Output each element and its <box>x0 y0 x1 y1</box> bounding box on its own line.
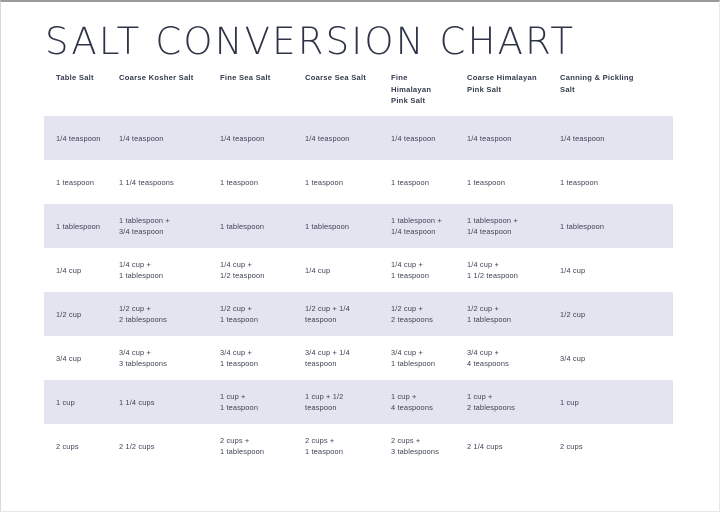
conversion-table-wrap: Table SaltCoarse Kosher SaltFine Sea Sal… <box>44 64 673 468</box>
cell-line: 1/4 cup <box>560 265 665 276</box>
cell-line: 2 cups + <box>391 435 459 446</box>
cell-fine-sea-salt: 1 teaspoon <box>220 160 305 204</box>
header-line: Pink Salt <box>467 84 550 96</box>
column-header-table-salt: Table Salt <box>44 64 119 116</box>
page-title: SALT CONVERSION CHART <box>45 20 719 64</box>
table-row: 3/4 cup3/4 cup +3 tablespoons3/4 cup +1 … <box>44 336 673 380</box>
cell-coarse-sea-salt: 1 teaspoon <box>305 160 391 204</box>
cell-line: 1/4 cup <box>56 265 111 276</box>
cell-line: 1/4 cup + <box>467 259 552 270</box>
cell-line: 1 cup + <box>467 391 552 402</box>
cell-line: 1 teaspoon <box>56 177 111 188</box>
column-header-label: Canning & PicklingSalt <box>560 72 640 95</box>
cell-line: 2 1/4 cups <box>467 441 552 452</box>
cell-line: 4 teaspoons <box>467 358 552 369</box>
cell-line: 1/4 teaspoon <box>305 133 383 144</box>
cell-fine-sea-salt: 3/4 cup +1 teaspoon <box>220 336 305 380</box>
cell-line: 3/4 cup + <box>391 347 459 358</box>
header-line: Canning & Pickling <box>560 72 640 84</box>
cell-line: 2 tablespoons <box>119 314 212 325</box>
cell-line: 1 tablespoon <box>560 221 665 232</box>
cell-line: 2 1/2 cups <box>119 441 212 452</box>
cell-line: 1/2 cup <box>56 309 111 320</box>
cell-line: 1/4 teaspoon <box>391 133 459 144</box>
cell-line: 1/2 cup + 1/4 <box>305 303 383 314</box>
cell-canning-pickling-salt: 1/4 teaspoon <box>560 116 673 160</box>
cell-line: 1 1/4 cups <box>119 397 212 408</box>
cell-line: 1/2 teaspoon <box>220 270 297 281</box>
cell-line: 1 cup + 1/2 <box>305 391 383 402</box>
cell-line: teaspoon <box>305 314 383 325</box>
cell-fine-himalayan-pink-salt: 3/4 cup +1 tablespoon <box>391 336 467 380</box>
column-header-canning-pickling-salt: Canning & PicklingSalt <box>560 64 673 116</box>
cell-table-salt: 1 tablespoon <box>44 204 119 248</box>
cell-coarse-himalayan-pink-salt: 1 tablespoon +1/4 teaspoon <box>467 204 560 248</box>
cell-line: 3 tablespoons <box>119 358 212 369</box>
column-header-coarse-himalayan-pink-salt: Coarse HimalayanPink Salt <box>467 64 560 116</box>
cell-line: 1/4 cup <box>305 265 383 276</box>
column-header-label: Table Salt <box>56 72 109 84</box>
cell-line: 1/2 cup <box>560 309 665 320</box>
column-header-label: FineHimalayanPink Salt <box>391 72 457 107</box>
cell-canning-pickling-salt: 1/2 cup <box>560 292 673 336</box>
cell-fine-sea-salt: 1 cup +1 teaspoon <box>220 380 305 424</box>
column-header-label: Coarse HimalayanPink Salt <box>467 72 550 95</box>
cell-coarse-himalayan-pink-salt: 1/4 teaspoon <box>467 116 560 160</box>
cell-line: 1 teaspoon <box>220 314 297 325</box>
cell-line: 3/4 cup <box>56 353 111 364</box>
cell-coarse-himalayan-pink-salt: 1 teaspoon <box>467 160 560 204</box>
cell-line: 1/4 cup + <box>391 259 459 270</box>
cell-coarse-himalayan-pink-salt: 1 cup +2 tablespoons <box>467 380 560 424</box>
table-row: 1 tablespoon1 tablespoon +3/4 teaspoon1 … <box>44 204 673 248</box>
cell-line: 1/4 teaspoon <box>560 133 665 144</box>
cell-line: 1 cup + <box>391 391 459 402</box>
cell-table-salt: 3/4 cup <box>44 336 119 380</box>
header-line: Table Salt <box>56 72 109 84</box>
cell-table-salt: 1 teaspoon <box>44 160 119 204</box>
cell-line: 1 cup <box>560 397 665 408</box>
cell-fine-himalayan-pink-salt: 2 cups +3 tablespoons <box>391 424 467 468</box>
cell-table-salt: 2 cups <box>44 424 119 468</box>
cell-line: 1/4 teaspoon <box>119 133 212 144</box>
table-row: 1/4 teaspoon1/4 teaspoon1/4 teaspoon1/4 … <box>44 116 673 160</box>
cell-line: 1 tablespoon <box>391 358 459 369</box>
cell-line: 2 cups + <box>220 435 297 446</box>
cell-coarse-himalayan-pink-salt: 3/4 cup +4 teaspoons <box>467 336 560 380</box>
cell-fine-sea-salt: 2 cups +1 tablespoon <box>220 424 305 468</box>
cell-coarse-sea-salt: 2 cups +1 teaspoon <box>305 424 391 468</box>
cell-line: 1/4 teaspoon <box>220 133 297 144</box>
cell-line: 1 teaspoon <box>560 177 665 188</box>
cell-line: 1 teaspoon <box>305 446 383 457</box>
cell-fine-himalayan-pink-salt: 1 tablespoon +1/4 teaspoon <box>391 204 467 248</box>
header-line: Coarse Sea Salt <box>305 72 371 84</box>
cell-line: 1/2 cup + <box>220 303 297 314</box>
table-row: 1 cup1 1/4 cups1 cup +1 teaspoon1 cup + … <box>44 380 673 424</box>
cell-coarse-sea-salt: 1/2 cup + 1/4teaspoon <box>305 292 391 336</box>
cell-line: 1/4 teaspoon <box>391 226 459 237</box>
header-line: Fine <box>391 72 457 84</box>
cell-table-salt: 1/4 cup <box>44 248 119 292</box>
cell-canning-pickling-salt: 2 cups <box>560 424 673 468</box>
cell-coarse-sea-salt: 1 tablespoon <box>305 204 391 248</box>
cell-coarse-himalayan-pink-salt: 1/4 cup +1 1/2 teaspoon <box>467 248 560 292</box>
cell-line: 1 teaspoon <box>391 270 459 281</box>
cell-line: teaspoon <box>305 402 383 413</box>
salt-conversion-table: Table SaltCoarse Kosher SaltFine Sea Sal… <box>44 64 673 468</box>
table-row: 2 cups2 1/2 cups2 cups +1 tablespoon2 cu… <box>44 424 673 468</box>
cell-line: 1 teaspoon <box>305 177 383 188</box>
cell-coarse-kosher-salt: 1 tablespoon +3/4 teaspoon <box>119 204 220 248</box>
cell-line: 1 tablespoon + <box>391 215 459 226</box>
header-line: Salt <box>560 84 640 96</box>
cell-line: 1 tablespoon <box>220 446 297 457</box>
table-row: 1/4 cup1/4 cup +1 tablespoon1/4 cup +1/2… <box>44 248 673 292</box>
cell-line: 1/4 teaspoon <box>467 133 552 144</box>
cell-fine-himalayan-pink-salt: 1 teaspoon <box>391 160 467 204</box>
cell-line: 2 tablespoons <box>467 402 552 413</box>
cell-fine-himalayan-pink-salt: 1/2 cup +2 teaspoons <box>391 292 467 336</box>
cell-line: 1 1/2 teaspoon <box>467 270 552 281</box>
cell-canning-pickling-salt: 1/4 cup <box>560 248 673 292</box>
cell-coarse-kosher-salt: 1/4 cup +1 tablespoon <box>119 248 220 292</box>
cell-line: 1/4 teaspoon <box>467 226 552 237</box>
cell-line: 1 cup <box>56 397 111 408</box>
cell-line: 1 tablespoon <box>305 221 383 232</box>
cell-table-salt: 1 cup <box>44 380 119 424</box>
cell-line: 1/4 teaspoon <box>56 133 111 144</box>
cell-coarse-himalayan-pink-salt: 1/2 cup +1 tablespoon <box>467 292 560 336</box>
table-header: Table SaltCoarse Kosher SaltFine Sea Sal… <box>44 64 673 116</box>
cell-line: 4 teaspoons <box>391 402 459 413</box>
cell-coarse-sea-salt: 1/4 teaspoon <box>305 116 391 160</box>
cell-canning-pickling-salt: 3/4 cup <box>560 336 673 380</box>
cell-line: 1 tablespoon + <box>119 215 212 226</box>
column-header-label: Coarse Sea Salt <box>305 72 371 84</box>
cell-line: 1 1/4 teaspoons <box>119 177 212 188</box>
column-header-coarse-kosher-salt: Coarse Kosher Salt <box>119 64 220 116</box>
cell-fine-himalayan-pink-salt: 1/4 cup +1 teaspoon <box>391 248 467 292</box>
cell-line: 1 tablespoon + <box>467 215 552 226</box>
cell-coarse-sea-salt: 1/4 cup <box>305 248 391 292</box>
cell-line: 2 teaspoons <box>391 314 459 325</box>
column-header-fine-sea-salt: Fine Sea Salt <box>220 64 305 116</box>
cell-line: 1/4 cup + <box>119 259 212 270</box>
table-header-row: Table SaltCoarse Kosher SaltFine Sea Sal… <box>44 64 673 116</box>
cell-line: 1 teaspoon <box>391 177 459 188</box>
cell-line: 2 cups <box>56 441 111 452</box>
cell-line: 1/2 cup + <box>119 303 212 314</box>
cell-line: 2 cups + <box>305 435 383 446</box>
cell-line: 3/4 cup + <box>220 347 297 358</box>
cell-line: teaspoon <box>305 358 383 369</box>
cell-line: 1 teaspoon <box>467 177 552 188</box>
column-header-label: Coarse Kosher Salt <box>119 72 185 84</box>
cell-coarse-himalayan-pink-salt: 2 1/4 cups <box>467 424 560 468</box>
cell-line: 3 tablespoons <box>391 446 459 457</box>
cell-line: 1/2 cup + <box>391 303 459 314</box>
cell-line: 1 tablespoon <box>119 270 212 281</box>
cell-line: 3/4 cup <box>560 353 665 364</box>
cell-fine-sea-salt: 1/4 teaspoon <box>220 116 305 160</box>
header-line: Coarse Himalayan <box>467 72 550 84</box>
cell-line: 1 tablespoon <box>467 314 552 325</box>
title-area: SALT CONVERSION CHART <box>1 2 719 64</box>
cell-fine-himalayan-pink-salt: 1/4 teaspoon <box>391 116 467 160</box>
cell-line: 1 cup + <box>220 391 297 402</box>
table-row: 1/2 cup1/2 cup +2 tablespoons1/2 cup +1 … <box>44 292 673 336</box>
salt-conversion-chart-page: SALT CONVERSION CHART Table SaltCoarse K… <box>0 0 720 512</box>
header-line: Coarse Kosher Salt <box>119 72 185 84</box>
cell-line: 1 teaspoon <box>220 402 297 413</box>
cell-line: 1 tablespoon <box>56 221 111 232</box>
cell-canning-pickling-salt: 1 tablespoon <box>560 204 673 248</box>
header-line: Fine Sea Salt <box>220 72 286 84</box>
header-line: Himalayan <box>391 84 457 96</box>
table-row: 1 teaspoon1 1/4 teaspoons1 teaspoon1 tea… <box>44 160 673 204</box>
cell-line: 3/4 teaspoon <box>119 226 212 237</box>
cell-line: 3/4 cup + <box>119 347 212 358</box>
column-header-fine-himalayan-pink-salt: FineHimalayanPink Salt <box>391 64 467 116</box>
column-header-coarse-sea-salt: Coarse Sea Salt <box>305 64 391 116</box>
cell-coarse-kosher-salt: 2 1/2 cups <box>119 424 220 468</box>
cell-coarse-kosher-salt: 1/2 cup +2 tablespoons <box>119 292 220 336</box>
cell-fine-sea-salt: 1/4 cup +1/2 teaspoon <box>220 248 305 292</box>
cell-line: 1/2 cup + <box>467 303 552 314</box>
cell-coarse-kosher-salt: 1 1/4 teaspoons <box>119 160 220 204</box>
cell-canning-pickling-salt: 1 teaspoon <box>560 160 673 204</box>
cell-coarse-sea-salt: 1 cup + 1/2teaspoon <box>305 380 391 424</box>
header-line: Pink Salt <box>391 95 457 107</box>
cell-fine-sea-salt: 1 tablespoon <box>220 204 305 248</box>
cell-fine-himalayan-pink-salt: 1 cup +4 teaspoons <box>391 380 467 424</box>
cell-table-salt: 1/2 cup <box>44 292 119 336</box>
cell-line: 3/4 cup + <box>467 347 552 358</box>
cell-coarse-kosher-salt: 1/4 teaspoon <box>119 116 220 160</box>
cell-fine-sea-salt: 1/2 cup +1 teaspoon <box>220 292 305 336</box>
cell-table-salt: 1/4 teaspoon <box>44 116 119 160</box>
cell-line: 1 tablespoon <box>220 221 297 232</box>
column-header-label: Fine Sea Salt <box>220 72 286 84</box>
cell-line: 2 cups <box>560 441 665 452</box>
cell-coarse-kosher-salt: 3/4 cup +3 tablespoons <box>119 336 220 380</box>
cell-coarse-sea-salt: 3/4 cup + 1/4teaspoon <box>305 336 391 380</box>
cell-line: 1 teaspoon <box>220 177 297 188</box>
cell-line: 1 teaspoon <box>220 358 297 369</box>
cell-line: 1/4 cup + <box>220 259 297 270</box>
table-body: 1/4 teaspoon1/4 teaspoon1/4 teaspoon1/4 … <box>44 116 673 468</box>
cell-line: 3/4 cup + 1/4 <box>305 347 383 358</box>
cell-canning-pickling-salt: 1 cup <box>560 380 673 424</box>
cell-coarse-kosher-salt: 1 1/4 cups <box>119 380 220 424</box>
